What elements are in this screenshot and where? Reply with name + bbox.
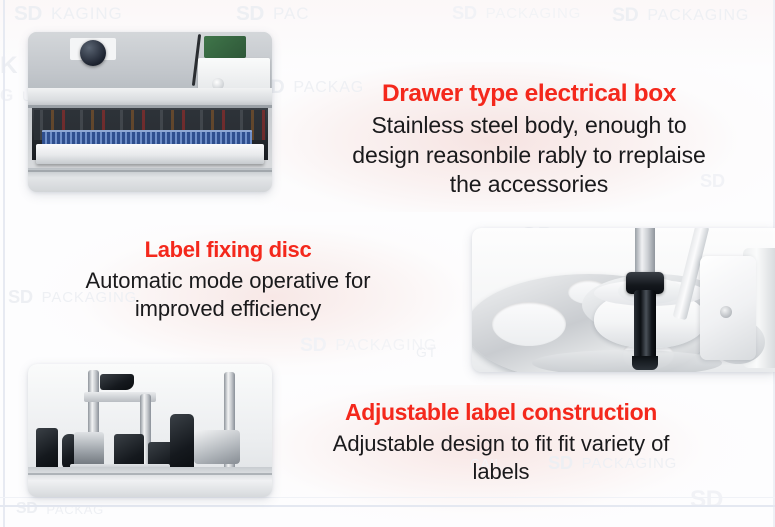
watermark-word: PAC [273, 4, 310, 24]
sd-logo-icon: SD [612, 4, 638, 27]
bolt-icon [720, 306, 732, 318]
feature-block-drawer-electrical-box: Drawer type electrical box Stainless ste… [290, 80, 768, 200]
sd-logo-icon: SD [16, 500, 37, 518]
feature-body-line: Adjustable design to fit fit variety of [333, 431, 670, 456]
sd-logo-icon: SD [690, 486, 723, 514]
drawer-front [36, 144, 264, 164]
feature-heading-adjustable-label-construction: Adjustable label construction [286, 400, 716, 426]
sd-logo-icon: G [0, 86, 13, 106]
watermark-sd-packaging: SD [690, 486, 723, 514]
watermark-sd-packaging: SDKAGING [14, 2, 123, 26]
feature-body-line: design reasonbile rably to rreplaise [352, 142, 705, 168]
watermark-word: PACKAGING [335, 337, 437, 355]
feature-body-drawer-electrical-box: Stainless steel body, enough to design r… [290, 111, 768, 199]
watermark-word: PACKAGING [486, 5, 582, 22]
sd-logo-icon: SD [14, 2, 42, 26]
watermark-sd-packaging: SDPACKAGING [300, 334, 437, 357]
image-adjustable-label-construction [28, 364, 272, 497]
bottom-hairline [0, 497, 775, 498]
image-drawer-electrical-box [28, 32, 272, 192]
control-knob-icon [80, 40, 106, 66]
feature-body-line: Automatic mode operative for [86, 268, 371, 293]
feature-block-adjustable-label-construction: Adjustable label construction Adjustable… [286, 400, 716, 486]
watermark-sd-packaging: SDPACKAG [16, 500, 104, 518]
feature-body-line: labels [473, 459, 530, 484]
feature-highlight-page: SDKAGINGSDPACSDPACKAGINGSDPACKAGINGKGUSD… [0, 0, 775, 527]
sd-logo-icon: SD [452, 2, 477, 24]
feature-body-line: improved efficiency [135, 296, 321, 321]
feature-body-line: the accessories [450, 171, 608, 197]
feature-body-label-fixing-disc: Automatic mode operative for improved ef… [28, 267, 428, 323]
feature-body-line: Stainless steel body, enough to [371, 112, 686, 138]
feature-heading-label-fixing-disc: Label fixing disc [28, 238, 428, 263]
watermark-word: PACKAG [46, 502, 104, 517]
bottom-divider-rule [0, 505, 775, 507]
sd-logo-icon: SD [236, 2, 264, 26]
feature-heading-drawer-electrical-box: Drawer type electrical box [290, 80, 768, 107]
image-label-fixing-disc [472, 228, 775, 372]
left-edge-rule [3, 0, 5, 527]
sd-logo-icon: SD [300, 334, 326, 357]
watermark-sd-packaging: GT [416, 344, 437, 360]
watermark-word: GT [416, 344, 437, 360]
feature-body-adjustable-label-construction: Adjustable design to fit fit variety of … [286, 430, 716, 486]
feature-block-label-fixing-disc: Label fixing disc Automatic mode operati… [28, 238, 428, 323]
watermark-sd-packaging: SDPACKAGING [452, 2, 581, 24]
watermark-word: PACKAGING [647, 7, 749, 25]
watermark-sd-packaging: SDPACKAGING [612, 4, 749, 27]
watermark-word: KAGING [51, 4, 123, 24]
watermark-sd-packaging: SDPAC [236, 2, 309, 26]
